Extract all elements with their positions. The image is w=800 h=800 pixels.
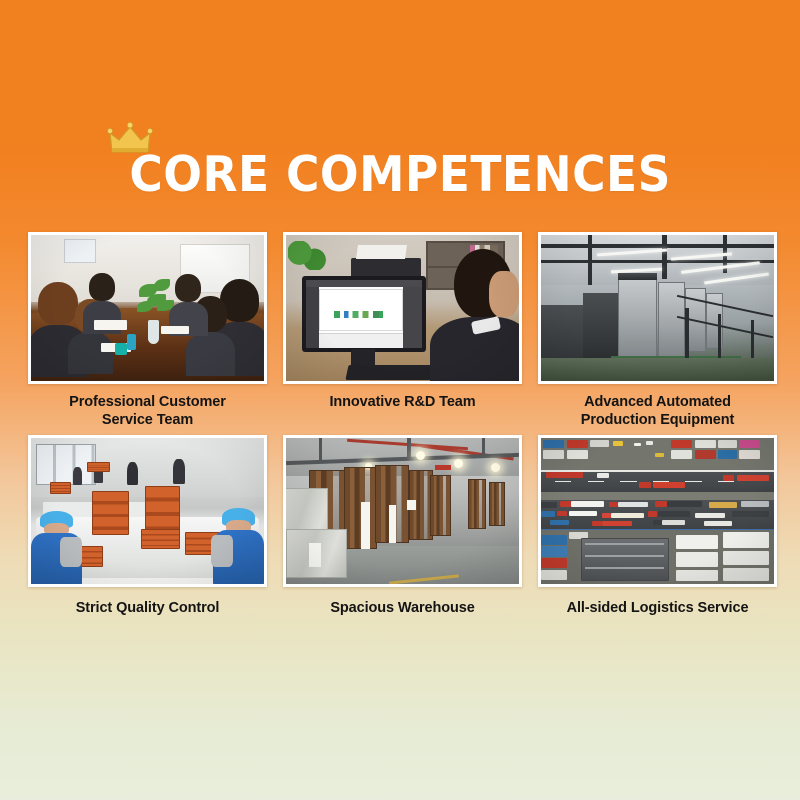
competence-card[interactable]: Spacious Warehouse bbox=[283, 435, 522, 617]
warehouse-photo bbox=[283, 435, 522, 587]
page-header: CORE COMPETENCES bbox=[0, 150, 800, 199]
printing-press-photo bbox=[538, 232, 777, 384]
meeting-room-photo bbox=[28, 232, 267, 384]
quality-control-photo bbox=[28, 435, 267, 587]
competences-row: Strict Quality Control bbox=[28, 435, 776, 617]
page-title: CORE COMPETENCES bbox=[129, 150, 671, 199]
competence-card[interactable]: All-sided Logistics Service bbox=[538, 435, 777, 617]
competence-card[interactable]: Advanced Automated Production Equipment bbox=[538, 232, 777, 429]
card-caption: Professional Customer Service Team bbox=[28, 393, 267, 429]
competence-card[interactable]: Professional Customer Service Team bbox=[28, 232, 267, 429]
core-competences-page: CORE COMPETENCES bbox=[0, 0, 800, 800]
competences-grid: Professional Customer Service Team bbox=[28, 232, 776, 617]
title-wrapper: CORE COMPETENCES bbox=[109, 150, 691, 199]
card-caption: Spacious Warehouse bbox=[283, 599, 522, 617]
competence-card[interactable]: Strict Quality Control bbox=[28, 435, 267, 617]
competence-card[interactable]: Innovative R&D Team bbox=[283, 232, 522, 429]
competences-row: Professional Customer Service Team bbox=[28, 232, 776, 429]
card-caption: Innovative R&D Team bbox=[283, 393, 522, 411]
card-caption: Advanced Automated Production Equipment bbox=[538, 393, 777, 429]
card-caption: All-sided Logistics Service bbox=[538, 599, 777, 617]
logistics-yard-photo bbox=[538, 435, 777, 587]
card-caption: Strict Quality Control bbox=[28, 599, 267, 617]
designer-workstation-photo bbox=[283, 232, 522, 384]
